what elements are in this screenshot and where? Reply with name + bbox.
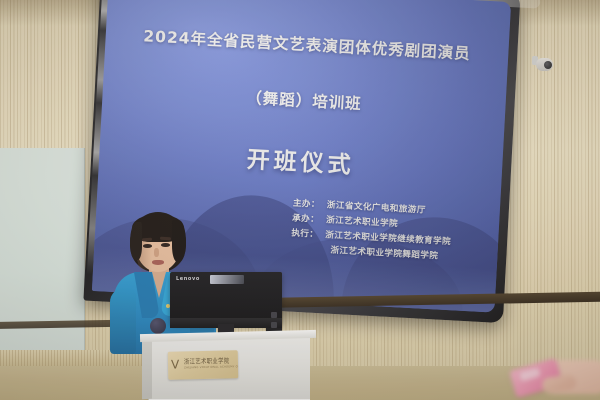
speaker-eye-right <box>161 243 170 247</box>
speaker-hair-side-left <box>130 222 142 260</box>
photo-scene: 2024年全省民营文艺表演团体优秀剧团演员 （舞蹈）培训班 开班仪式 主办：浙江… <box>0 0 600 400</box>
podium-plaque: V 浙江艺术职业学院 ZHEJIANG VOCATIONAL ACADEMY O… <box>168 350 239 379</box>
academy-logo-icon: V <box>171 358 182 373</box>
speaker-arm-left <box>110 288 136 354</box>
monitor-brand-label: Lenovo <box>176 276 200 282</box>
monitor-reflection <box>210 275 244 284</box>
speaker-nose <box>154 248 159 257</box>
monitor-power-button[interactable] <box>271 312 277 318</box>
microphone-head <box>150 318 166 334</box>
speaker-eye-left <box>143 244 152 248</box>
podium-side-face <box>142 335 152 400</box>
camera-lens <box>544 61 552 69</box>
security-camera-icon <box>530 56 554 74</box>
foreground-hand <box>512 352 600 400</box>
speaker-mouth <box>152 260 164 265</box>
plaque-english-name: ZHEJIANG VOCATIONAL ACADEMY OF ART <box>184 365 235 369</box>
podium: V 浙江艺术职业学院 ZHEJIANG VOCATIONAL ACADEMY O… <box>148 337 310 400</box>
speaker-hair-side-right <box>172 220 186 262</box>
monitor-menu-button[interactable] <box>271 322 277 328</box>
